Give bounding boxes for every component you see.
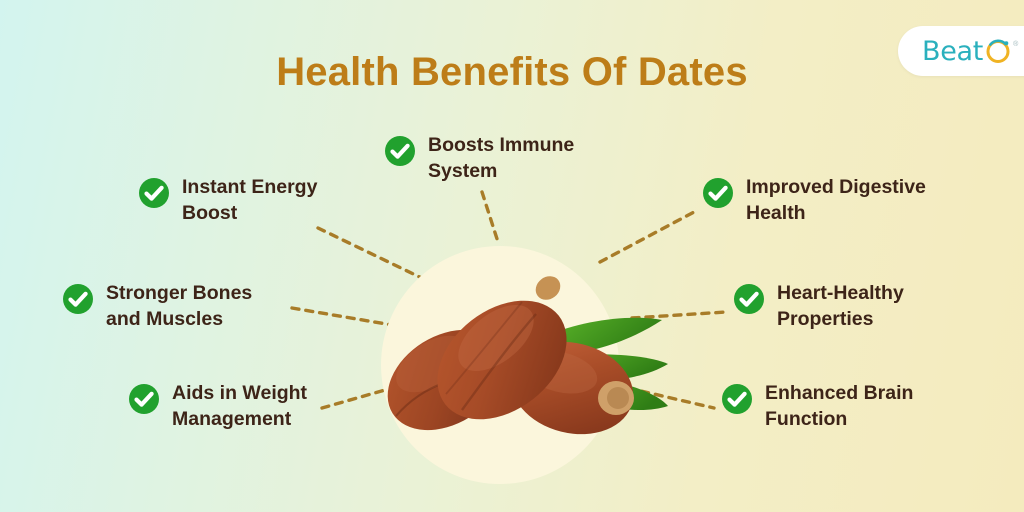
benefit-label: Improved Digestive Health — [746, 175, 926, 227]
benefit-label: Enhanced Brain Function — [765, 381, 913, 433]
check-circle-icon — [62, 283, 94, 315]
benefit-label: Aids in Weight Management — [172, 381, 307, 433]
trademark-symbol: ® — [1013, 41, 1018, 48]
benefit-enhanced-brain-function: Enhanced Brain Function — [721, 381, 913, 433]
check-circle-icon — [384, 135, 416, 167]
dates-photo — [350, 240, 670, 490]
check-circle-icon — [128, 383, 160, 415]
benefit-label: Stronger Bones and Muscles — [106, 281, 252, 333]
check-circle-icon — [138, 177, 170, 209]
benefit-aids-weight-management: Aids in Weight Management — [128, 381, 307, 433]
connector-line-immune — [482, 192, 498, 242]
benefit-heart-healthy-properties: Heart-Healthy Properties — [733, 281, 904, 333]
benefit-improved-digestive-health: Improved Digestive Health — [702, 175, 926, 227]
check-circle-icon — [733, 283, 765, 315]
benefit-stronger-bones: Stronger Bones and Muscles — [62, 281, 252, 333]
check-circle-icon — [702, 177, 734, 209]
benefit-label: Instant Energy Boost — [182, 175, 317, 227]
benefit-label: Boosts Immune System — [428, 133, 574, 185]
benefit-label: Heart-Healthy Properties — [777, 281, 904, 333]
page-title: Health Benefits Of Dates — [0, 50, 1024, 95]
benefit-instant-energy-boost: Instant Energy Boost — [138, 175, 317, 227]
infographic-poster: Beat ® Health Benefits Of Dates Boosts I… — [0, 0, 1024, 512]
check-circle-icon — [721, 383, 753, 415]
benefit-boosts-immune-system: Boosts Immune System — [384, 133, 574, 185]
